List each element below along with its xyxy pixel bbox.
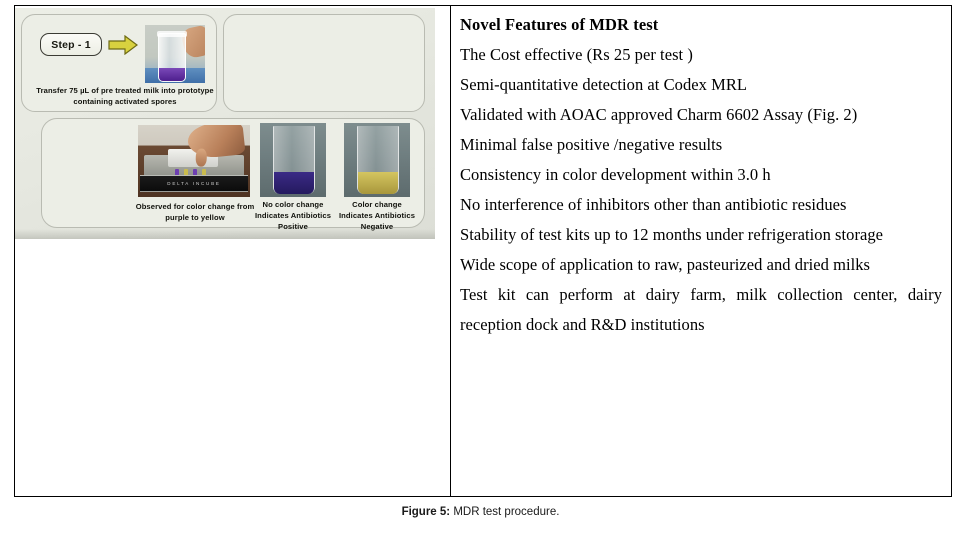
result-title: No color change — [263, 200, 324, 209]
feature-line: Consistency in color development within … — [460, 160, 942, 190]
result-verdict: Positive — [278, 222, 308, 231]
feature-line: Semi-quantitative detection at Codex MRL — [460, 70, 942, 100]
figure-caption-label: Figure 5: — [402, 506, 451, 518]
tube-yellow-liquid — [358, 172, 398, 194]
step-3-photo: DELTA INCUBE — [138, 125, 250, 197]
features-cell: Novel Features of MDR test The Cost effe… — [451, 6, 951, 496]
figure-cell: Step - 1 Transfer 75 µL of pre treated m… — [15, 6, 451, 496]
result-photo-negative — [344, 123, 410, 197]
result-label-negative: Color change Indicates Antibiotics Negat… — [328, 199, 426, 232]
step-2-panel: Step - 2 DELTA INCUBE I — [223, 14, 425, 112]
features-heading: Novel Features of MDR test — [460, 10, 942, 40]
step-1-caption: Transfer 75 µL of pre treated milk into … — [32, 85, 218, 107]
step-1-chip: Step - 1 — [40, 33, 102, 56]
step-1-photo — [145, 25, 205, 83]
arrow-right-icon — [108, 35, 138, 55]
result-title: Color change — [352, 200, 402, 209]
feature-line: Wide scope of application to raw, pasteu… — [460, 250, 942, 280]
figure-table: Step - 1 Transfer 75 µL of pre treated m… — [14, 5, 952, 497]
figure-caption: Figure 5: MDR test procedure. — [0, 506, 961, 518]
tube-shape — [357, 126, 399, 194]
result-subtitle: Indicates Antibiotics — [255, 211, 331, 220]
hand-shape — [186, 125, 245, 160]
tube-shape — [273, 126, 315, 194]
feature-line: No interference of inhibitors other than… — [460, 190, 942, 220]
feature-line: Minimal false positive /negative results — [460, 130, 942, 160]
feature-line: Validated with AOAC approved Charm 6602 … — [460, 100, 942, 130]
incubator-base: DELTA INCUBE — [140, 175, 248, 192]
feature-line: The Cost effective (Rs 25 per test ) — [460, 40, 942, 70]
page-root: Step - 1 Transfer 75 µL of pre treated m… — [0, 0, 961, 534]
step-3-panel: Step - 3 DELTA INCUBE — [41, 118, 425, 228]
figure-caption-text: MDR test procedure. — [450, 506, 559, 518]
vial-shape — [158, 33, 186, 82]
result-photo-positive — [260, 123, 326, 197]
device-brand-label: DELTA INCUBE — [167, 181, 220, 186]
vial-cap — [157, 31, 187, 37]
result-verdict: Negative — [361, 222, 393, 231]
feature-line: Test kit can perform at dairy farm, milk… — [460, 280, 942, 340]
tube-purple-liquid — [274, 172, 314, 194]
mdr-procedure-image: Step - 1 Transfer 75 µL of pre treated m… — [15, 8, 435, 239]
vial-purple-liquid — [159, 68, 185, 81]
step-1-panel: Step - 1 Transfer 75 µL of pre treated m… — [21, 14, 217, 112]
result-subtitle: Indicates Antibiotics — [339, 211, 415, 220]
feature-line: Stability of test kits up to 12 months u… — [460, 220, 942, 250]
